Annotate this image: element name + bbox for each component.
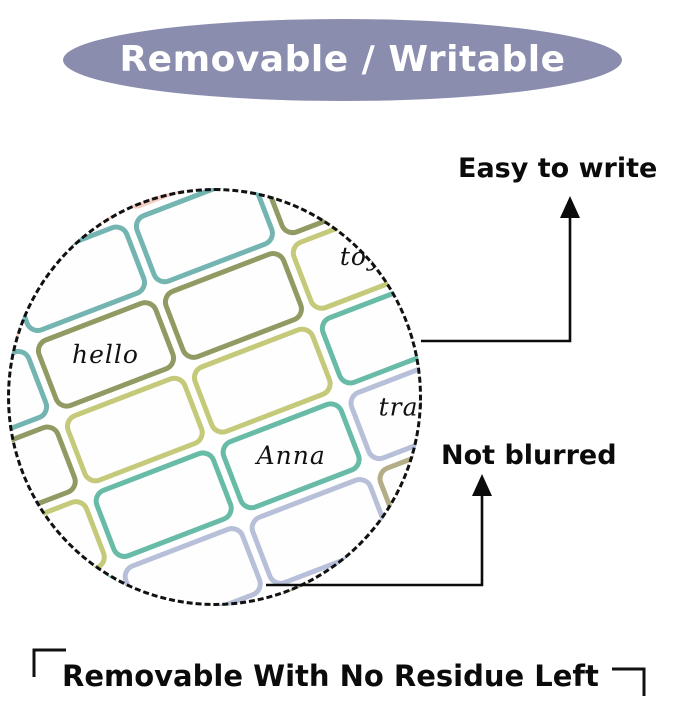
callout-easy-to-write-label: Easy to write bbox=[458, 153, 657, 184]
header-banner: Removable / Writable bbox=[63, 19, 622, 101]
banner-title: Removable / Writable bbox=[119, 39, 565, 80]
photo-clip-circle: hellotoyAnnatravel bbox=[7, 188, 422, 606]
handwritten-text: hello bbox=[72, 340, 139, 369]
easy-to-write-leader bbox=[421, 196, 580, 341]
handwritten-text: Anna bbox=[256, 442, 325, 471]
callout-not-blurred-label: Not blurred bbox=[441, 440, 617, 471]
footer-bracket-bottom-right bbox=[612, 669, 644, 696]
label-sheet: hellotoyAnnatravel bbox=[7, 188, 422, 606]
footer-label: Removable With No Residue Left bbox=[62, 659, 599, 693]
product-infographic: Removable / Writable hellotoyAnnatravel bbox=[0, 0, 679, 705]
label-grid: hellotoyAnnatravel bbox=[7, 188, 422, 606]
handwritten-text: toy bbox=[339, 242, 381, 271]
handwritten-text: travel bbox=[379, 393, 422, 422]
product-photo: hellotoyAnnatravel bbox=[7, 188, 422, 606]
